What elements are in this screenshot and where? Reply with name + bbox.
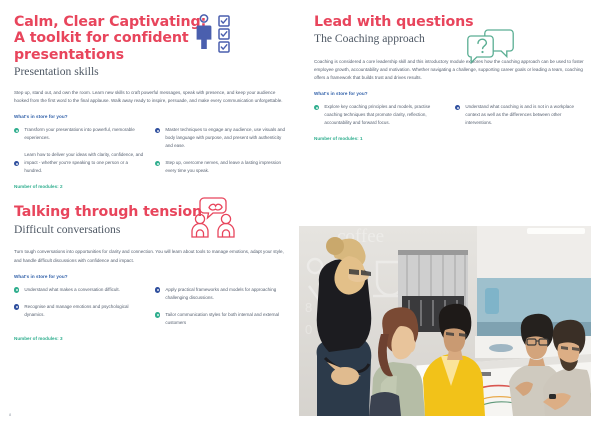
bullet-column-left: Understand what makes a conversation dif…	[14, 286, 145, 327]
list-item: Recognise and manage emotions and psycho…	[14, 303, 145, 319]
bullet-dot-icon	[314, 105, 319, 110]
bullet-dot-icon	[455, 105, 460, 110]
bullet-text: Understand what coaching is and is not i…	[465, 103, 586, 127]
bullet-text: Explore key coaching principles and mode…	[324, 103, 445, 127]
brochure-page: Calm, Clear Captivating: A toolkit for c…	[0, 0, 600, 424]
bullet-grid: Transform your presentations into powerf…	[14, 126, 286, 175]
bullet-dot-icon	[14, 287, 19, 292]
bullet-column-right: Master techniques to engage any audience…	[155, 126, 286, 175]
right-column: Lead with questions The Coaching approac…	[314, 14, 588, 141]
person-checklist-icon	[192, 12, 238, 58]
title-line-1: Lead with questions	[314, 14, 473, 30]
list-item: Apply practical frameworks and models fo…	[155, 286, 286, 302]
section-coaching-approach: Lead with questions The Coaching approac…	[314, 14, 588, 141]
list-item: Tailor communication styles for both int…	[155, 311, 286, 327]
svg-text:0: 0	[305, 322, 312, 337]
bullet-grid: Understand what makes a conversation dif…	[14, 286, 286, 327]
title-block: Calm, Clear Captivating: A toolkit for c…	[14, 14, 286, 79]
number-of-modules: Number of modules: 3	[14, 336, 286, 341]
list-item: Explore key coaching principles and mode…	[314, 103, 445, 127]
page-subtitle: Difficult conversations	[14, 223, 286, 237]
section-presentation-skills: Calm, Clear Captivating: A toolkit for c…	[14, 14, 286, 189]
bullet-dot-icon	[155, 312, 160, 317]
bullet-text: Learn how to deliver your ideas with cla…	[24, 151, 145, 175]
section-intro: Coaching is considered a core leadership…	[314, 58, 588, 82]
page-title: Calm, Clear Captivating: A toolkit for c…	[14, 14, 286, 63]
bullet-column-left: Explore key coaching principles and mode…	[314, 103, 445, 127]
section-divider	[14, 189, 286, 204]
bullet-dot-icon	[155, 161, 160, 166]
bullet-column-right: Apply practical frameworks and models fo…	[155, 286, 286, 327]
bullet-dot-icon	[14, 304, 19, 309]
page-number: 8	[9, 412, 11, 417]
list-item: Understand what makes a conversation dif…	[14, 286, 145, 294]
bullet-text: Tailor communication styles for both int…	[165, 311, 286, 327]
svg-text:8: 8	[305, 300, 312, 315]
list-item: Learn how to deliver your ideas with cla…	[14, 151, 145, 175]
whats-in-store-label: What's in store for you?	[14, 114, 286, 119]
bullet-text: Transform your presentations into powerf…	[24, 126, 145, 142]
list-item: Transform your presentations into powerf…	[14, 126, 145, 142]
bullet-grid: Explore key coaching principles and mode…	[314, 103, 588, 127]
title-line-1: Talking through tension	[14, 204, 202, 220]
question-speech-bubbles-icon	[462, 26, 520, 68]
section-intro: Step up, stand out, and own the room. Le…	[14, 89, 286, 105]
left-column: Calm, Clear Captivating: A toolkit for c…	[14, 14, 286, 341]
two-people-speech-bubble-icon	[182, 196, 244, 240]
workshop-meeting-photo: coffee 8 0	[299, 226, 591, 416]
bullet-text: Master techniques to engage any audience…	[165, 126, 286, 150]
whats-in-store-label: What's in store for you?	[314, 91, 588, 96]
bullet-column-right: Understand what coaching is and is not i…	[455, 103, 586, 127]
bullet-column-left: Transform your presentations into powerf…	[14, 126, 145, 175]
bullet-text: Understand what makes a conversation dif…	[24, 286, 119, 294]
title-block: Talking through tension Difficult conver…	[14, 204, 286, 238]
list-item: Step up, overcome nerves, and leave a la…	[155, 159, 286, 175]
section-difficult-conversations: Talking through tension Difficult conver…	[14, 204, 286, 340]
page-title: Talking through tension	[14, 204, 286, 220]
bullet-text: Apply practical frameworks and models fo…	[165, 286, 286, 302]
bullet-text: Recognise and manage emotions and psycho…	[24, 303, 145, 319]
page-subtitle: Presentation skills	[14, 65, 286, 79]
section-intro: Turn tough conversations into opportunit…	[14, 248, 286, 264]
title-line-2: A toolkit for confident presentations	[14, 30, 189, 62]
bullet-dot-icon	[155, 128, 160, 133]
list-item: Master techniques to engage any audience…	[155, 126, 286, 150]
bullet-dot-icon	[14, 128, 19, 133]
number-of-modules: Number of modules: 1	[314, 136, 588, 141]
title-block: Lead with questions The Coaching approac…	[314, 14, 588, 48]
page-subtitle: The Coaching approach	[314, 32, 588, 46]
bullet-dot-icon	[155, 287, 160, 292]
whats-in-store-label: What's in store for you?	[14, 274, 286, 279]
page-title: Lead with questions	[314, 14, 588, 30]
bullet-text: Step up, overcome nerves, and leave a la…	[165, 159, 286, 175]
title-line-1: Calm, Clear Captivating:	[14, 14, 206, 30]
bullet-dot-icon	[14, 161, 19, 166]
list-item: Understand what coaching is and is not i…	[455, 103, 586, 127]
